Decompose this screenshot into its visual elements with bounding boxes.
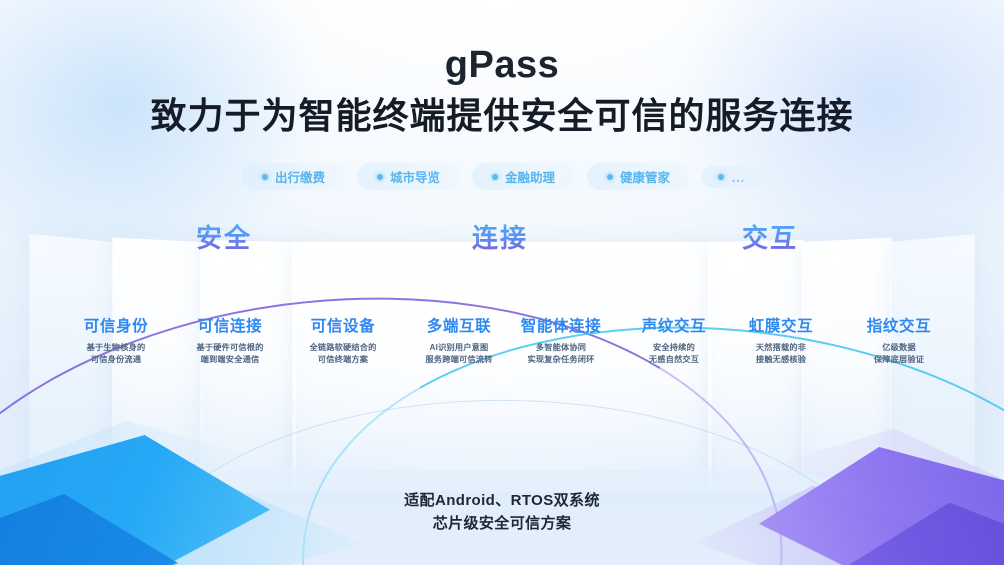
capability-card-row: 可信身份 基于生物核身的 可信身份流通 可信连接 基于硬件可信根的 端到端安全通… [0, 318, 1004, 378]
capability-card[interactable]: 可信连接 基于硬件可信根的 端到端安全通信 [170, 318, 290, 366]
slide-canvas: gPass 致力于为智能终端提供安全可信的服务连接 出行缴费 城市导览 金融助理… [0, 0, 1004, 565]
brand-title: gPass [0, 46, 1004, 84]
dot-icon [718, 174, 724, 180]
bottom-caption-line2: 芯片级安全可信方案 [0, 512, 1004, 535]
card-subtitle-line: 实现复杂任务闭环 [496, 354, 626, 366]
ellipsis-icon: … [731, 170, 746, 184]
card-subtitle-line: 安全持续的 [615, 342, 733, 354]
card-title: 虹膜交互 [722, 318, 840, 336]
card-subtitle: 全链路软硬结合的 可信终端方案 [281, 342, 405, 366]
card-subtitle: 亿级数据 保障底层验证 [840, 342, 958, 366]
dot-icon [262, 174, 268, 180]
scenario-tag[interactable]: 金融助理 [472, 163, 575, 190]
capability-card[interactable]: 可信身份 基于生物核身的 可信身份流通 [56, 318, 176, 366]
card-subtitle: 天然搭载的非 接触无感核验 [722, 342, 840, 366]
scenario-tag-label: 城市导览 [390, 167, 440, 186]
card-subtitle-line: 天然搭载的非 [722, 342, 840, 354]
card-title: 声纹交互 [615, 318, 733, 336]
capability-card[interactable]: 声纹交互 安全持续的 无感自然交互 [615, 318, 733, 366]
card-subtitle-line: 亿级数据 [840, 342, 958, 354]
bottom-caption-line1: 适配Android、RTOS双系统 [0, 489, 1004, 512]
dot-icon [492, 174, 498, 180]
card-subtitle-line: 无感自然交互 [615, 354, 733, 366]
card-subtitle-line: 端到端安全通信 [170, 354, 290, 366]
capability-card[interactable]: 指纹交互 亿级数据 保障底层验证 [840, 318, 958, 366]
section-header-row: 安全 连接 交互 [0, 224, 1004, 262]
card-subtitle: 基于生物核身的 可信身份流通 [56, 342, 176, 366]
card-subtitle: 多智能体协同 实现复杂任务闭环 [496, 342, 626, 366]
card-title: 可信连接 [170, 318, 290, 336]
scenario-tag-row: 出行缴费 城市导览 金融助理 健康管家 … [0, 163, 1004, 190]
card-subtitle-line: 接触无感核验 [722, 354, 840, 366]
scenario-tag[interactable]: 出行缴费 [242, 163, 345, 190]
scenario-tag-label: 健康管家 [620, 167, 670, 186]
card-subtitle: 基于硬件可信根的 端到端安全通信 [170, 342, 290, 366]
scenario-tag-label: 金融助理 [505, 167, 555, 186]
capability-card[interactable]: 智能体连接 多智能体协同 实现复杂任务闭环 [496, 318, 626, 366]
card-title: 可信设备 [281, 318, 405, 336]
bottom-caption: 适配Android、RTOS双系统 芯片级安全可信方案 [0, 489, 1004, 536]
card-subtitle-line: 保障底层验证 [840, 354, 958, 366]
scenario-tag[interactable]: 健康管家 [587, 163, 690, 190]
card-subtitle-line: 多智能体协同 [496, 342, 626, 354]
dot-icon [607, 174, 613, 180]
card-title: 指纹交互 [840, 318, 958, 336]
headline: 致力于为智能终端提供安全可信的服务连接 [0, 96, 1004, 136]
slide-content: gPass 致力于为智能终端提供安全可信的服务连接 出行缴费 城市导览 金融助理… [0, 0, 1004, 565]
capability-card[interactable]: 可信设备 全链路软硬结合的 可信终端方案 [281, 318, 405, 366]
section-header-connection: 连接 [472, 224, 528, 253]
card-subtitle-line: 全链路软硬结合的 [281, 342, 405, 354]
section-header-interaction: 交互 [742, 224, 798, 253]
card-subtitle-line: 基于生物核身的 [56, 342, 176, 354]
dot-icon [377, 174, 383, 180]
scenario-tag[interactable]: 城市导览 [357, 163, 460, 190]
card-title: 智能体连接 [496, 318, 626, 336]
scenario-tag-more[interactable]: … [702, 166, 762, 188]
section-header-security: 安全 [196, 224, 252, 253]
card-title: 可信身份 [56, 318, 176, 336]
card-subtitle-line: 基于硬件可信根的 [170, 342, 290, 354]
card-subtitle: 安全持续的 无感自然交互 [615, 342, 733, 366]
card-subtitle-line: 可信终端方案 [281, 354, 405, 366]
card-subtitle-line: 可信身份流通 [56, 354, 176, 366]
scenario-tag-label: 出行缴费 [275, 167, 325, 186]
capability-card[interactable]: 虹膜交互 天然搭载的非 接触无感核验 [722, 318, 840, 366]
